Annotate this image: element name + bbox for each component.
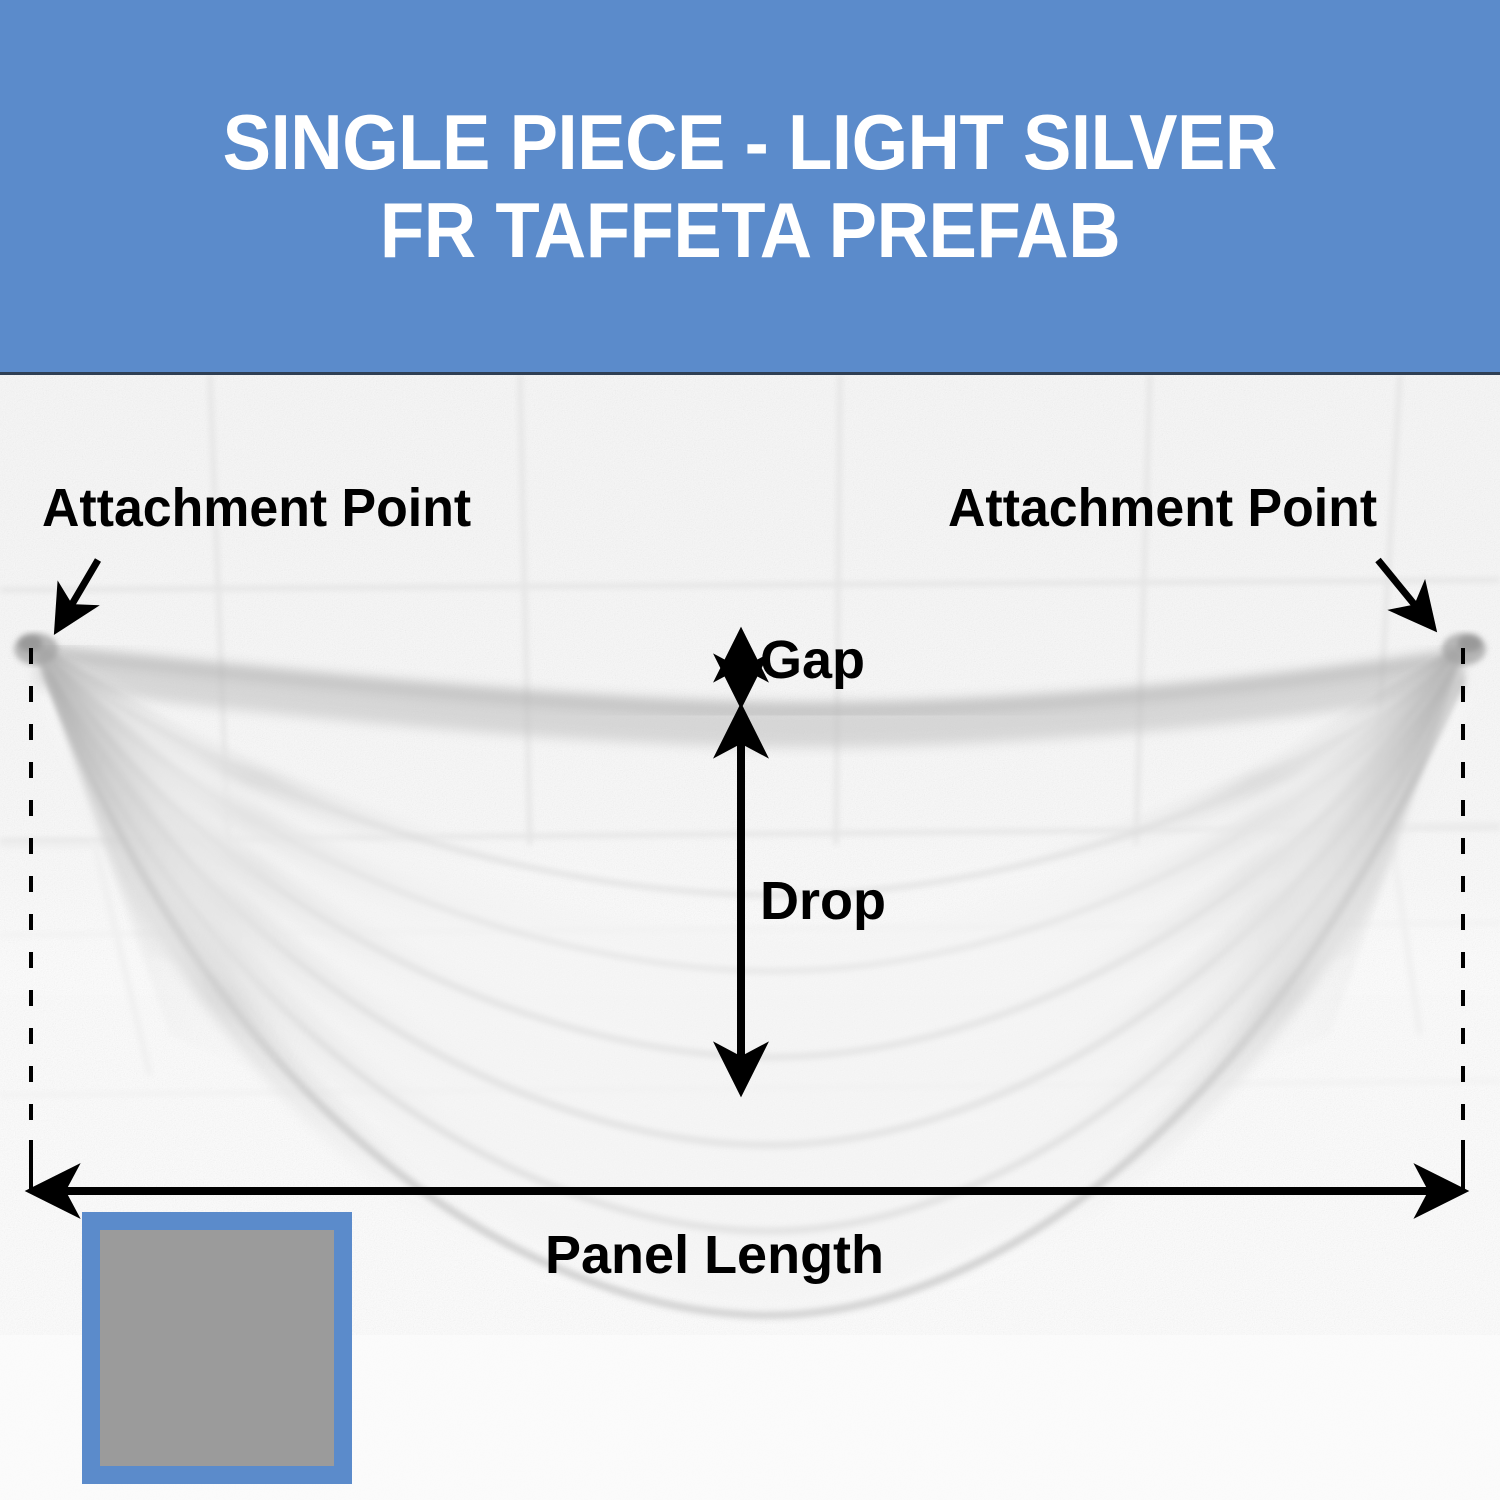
title-line-1: SINGLE PIECE - LIGHT SILVER (223, 102, 1277, 182)
color-swatch (82, 1212, 352, 1484)
attachment-point-label-right: Attachment Point (948, 481, 1377, 535)
product-diagram-page: SINGLE PIECE - LIGHT SILVER FR TAFFETA P… (0, 0, 1500, 1500)
attachment-point-label-left: Attachment Point (42, 481, 471, 535)
title-banner: SINGLE PIECE - LIGHT SILVER FR TAFFETA P… (0, 0, 1500, 375)
drop-label: Drop (760, 874, 886, 928)
title-line-2: FR TAFFETA PREFAB (380, 190, 1120, 270)
color-swatch-fill (100, 1230, 334, 1466)
gap-label: Gap (760, 633, 865, 687)
panel-length-label: Panel Length (545, 1228, 884, 1282)
